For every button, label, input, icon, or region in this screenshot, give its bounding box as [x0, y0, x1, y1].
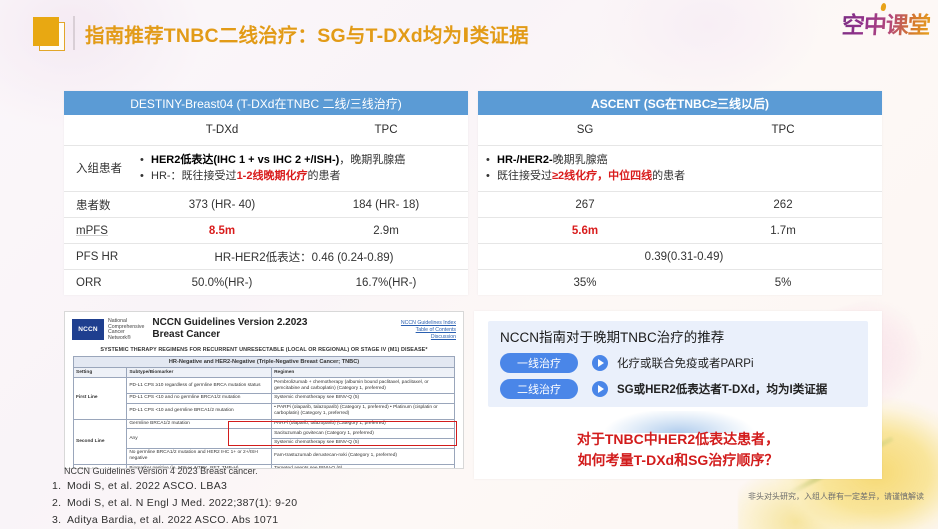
arm-label-tpc: TPC — [684, 124, 882, 136]
criteria-row-destiny: 入组患者 •HER2低表达(IHC 1 + vs IHC 2 +/ISH-)，晚… — [64, 145, 468, 191]
trial-card-destiny-breast04: DESTINY-Breast04 (T-DXd在TNBC 二线/三线治疗) T-… — [64, 91, 468, 295]
row-label-mpfs: mPFS — [64, 225, 140, 237]
cell-value: 184 (HR- 18) — [304, 199, 468, 211]
cell-value: 262 — [684, 199, 882, 211]
nccn-col-setting: Setting — [74, 368, 127, 378]
cell-value: 5% — [684, 277, 882, 289]
trial-header-destiny: DESTINY-Breast04 (T-DXd在TNBC 二线/三线治疗) — [64, 91, 468, 115]
nccn-table-row: PD-L1 CPS <10 and germline BRCA1/2 mutat… — [74, 403, 455, 419]
table-row: 5.6m 1.7m — [478, 217, 882, 243]
nccn-table-row: Any Sacituzumab govitecan (Category 1, p… — [74, 429, 455, 439]
criteria-item: •HER2低表达(IHC 1 + vs IHC 2 +/ISH-)，晚期乳腺癌 — [140, 152, 462, 168]
nccn-banner: HR-Negative and HER2-Negative (Triple-Ne… — [74, 357, 455, 368]
play-arrow-icon — [592, 355, 608, 371]
cell-value: 2.9m — [304, 225, 468, 237]
table-row: 0.39(0.31-0.49) — [478, 243, 882, 269]
cell-value: 35% — [486, 277, 684, 289]
nccn-table-row: PD-L1 CPS <10 and no germline BRCA1/2 mu… — [74, 393, 455, 403]
page-title: 指南推荐TNBC二线治疗：SG与T-DXd均为Ⅰ类证据 — [85, 19, 529, 48]
nccn-col-regimen: Regimen — [272, 368, 455, 378]
row-label-patients: 患者数 — [64, 197, 140, 213]
table-row: 267 262 — [478, 191, 882, 217]
criteria-item: •HR-：既往接受过1-2线晚期化疗的患者 — [140, 168, 462, 184]
nccn-logo-badge: NCCN — [72, 319, 104, 340]
recommendation-text: SG或HER2低表达者T-DXd，均为I类证据 — [617, 381, 827, 397]
table-row: PFS HR HR-HER2低表达：0.46 (0.24-0.89) — [64, 243, 468, 269]
trial-arms-row-destiny: T-DXd TPC — [64, 115, 468, 145]
table-row: mPFS 8.5m 2.9m — [64, 217, 468, 243]
nccn-regimen-table: HR-Negative and HER2-Negative (Triple-Ne… — [73, 356, 455, 469]
nccn-org-name: NationalComprehensiveCancerNetwork® — [108, 317, 144, 341]
cell-value: 16.7%(HR-) — [304, 277, 468, 289]
row-label-pfshr: PFS HR — [64, 251, 140, 263]
recommendation-text: 化疗或联合免疫或者PARPi — [617, 355, 754, 371]
cell-value: 5.6m — [486, 225, 684, 237]
cell-value: HR-HER2低表达：0.46 (0.24-0.89) — [140, 249, 468, 265]
recommendation-box: NCCN指南对于晚期TNBC治疗的推荐 一线治疗 化疗或联合免疫或者PARPi … — [488, 321, 868, 407]
criteria-row-ascent: •HR-/HER2-晚期乳腺癌 •既往接受过≥2线化疗，中位四线的患者 — [478, 145, 882, 191]
key-question-text: 对于TNBC中HER2低表达患者， 如何考量T-DXd和SG治疗顺序？ — [474, 429, 882, 471]
nccn-title-block: NCCN Guidelines Version 2.2023 Breast Ca… — [152, 317, 307, 341]
slide-header: 指南推荐TNBC二线治疗：SG与T-DXd均为Ⅰ类证据 空中课堂 — [0, 0, 938, 64]
nccn-index-links: NCCN Guidelines Index Table of Contents … — [401, 317, 456, 341]
list-item: 2.Modi S, et al. N Engl J Med. 2022;387(… — [52, 495, 297, 512]
nccn-recommendation-panel: NCCN指南对于晚期TNBC治疗的推荐 一线治疗 化疗或联合免疫或者PARPi … — [474, 311, 882, 479]
cell-value: 267 — [486, 199, 684, 211]
list-item: 1.Modi S, et al. 2022 ASCO. LBA3 — [52, 478, 297, 495]
table-row: 35% 5% — [478, 269, 882, 295]
square-bullet-icon — [33, 17, 65, 51]
study-disclaimer: 非头对头研究，入组人群有一定差异，请谨慎解读 — [748, 491, 924, 502]
reference-list: 1.Modi S, et al. 2022 ASCO. LBA3 2.Modi … — [52, 478, 297, 529]
list-item: 3.Aditya Bardia, et al. 2022 ASCO. Abs 1… — [52, 512, 297, 529]
nccn-guideline-screenshot: NCCN NationalComprehensiveCancerNetwork®… — [64, 311, 464, 469]
table-row: ORR 50.0%(HR-) 16.7%(HR-) — [64, 269, 468, 295]
nccn-col-biomarker: Subtype/Biomarker — [127, 368, 272, 378]
row-label-orr: ORR — [64, 277, 140, 289]
recommendation-line-first: 一线治疗 化疗或联合免疫或者PARPi — [500, 353, 856, 373]
trial-comparison-tables: DESTINY-Breast04 (T-DXd在TNBC 二线/三线治疗) T-… — [64, 91, 882, 295]
arm-label-tpc: TPC — [304, 124, 468, 136]
pill-second-line[interactable]: 二线治疗 — [500, 379, 578, 399]
play-arrow-icon — [592, 381, 608, 397]
trial-card-ascent: ASCENT (SG在TNBC≥三线以后) SG TPC •HR-/HER2-晚… — [478, 91, 882, 295]
nccn-table-row: Second Line Germline BRCA1/2 mutation PA… — [74, 419, 455, 429]
cell-value: 373 (HR- 40) — [140, 199, 304, 211]
arm-label-tdxd: T-DXd — [140, 124, 304, 136]
trial-header-ascent: ASCENT (SG在TNBC≥三线以后) — [478, 91, 882, 115]
recommendation-line-second: 二线治疗 SG或HER2低表达者T-DXd，均为I类证据 — [500, 379, 856, 399]
table-row: 患者数 373 (HR- 40) 184 (HR- 18) — [64, 191, 468, 217]
nccn-table-row: First Line PD-L1 CPS ≥10 regardless of g… — [74, 378, 455, 394]
pill-first-line[interactable]: 一线治疗 — [500, 353, 578, 373]
title-divider — [73, 16, 75, 50]
criteria-item: •HR-/HER2-晚期乳腺癌 — [486, 152, 876, 168]
nccn-table-row: No germline BRCA1/2 mutation and HER2 IH… — [74, 448, 455, 464]
cell-value: 1.7m — [684, 225, 882, 237]
criteria-item: •既往接受过≥2线化疗，中位四线的患者 — [486, 168, 876, 184]
nccn-systemic-header: SYSTEMIC THERAPY REGIMENS FOR RECURRENT … — [65, 344, 463, 356]
cell-value: 8.5m — [140, 225, 304, 237]
trial-arms-row-ascent: SG TPC — [478, 115, 882, 145]
nccn-source-caption: NCCN Guidelines Version 4 2023 Breast ca… — [64, 466, 258, 476]
arm-label-sg: SG — [486, 124, 684, 136]
cell-value: 50.0%(HR-) — [140, 277, 304, 289]
cell-value: 0.39(0.31-0.49) — [486, 251, 882, 263]
recommendation-title: NCCN指南对于晚期TNBC治疗的推荐 — [500, 329, 856, 347]
brand-logo: 空中课堂 — [841, 6, 931, 40]
criteria-label-destiny: 入组患者 — [64, 160, 140, 176]
